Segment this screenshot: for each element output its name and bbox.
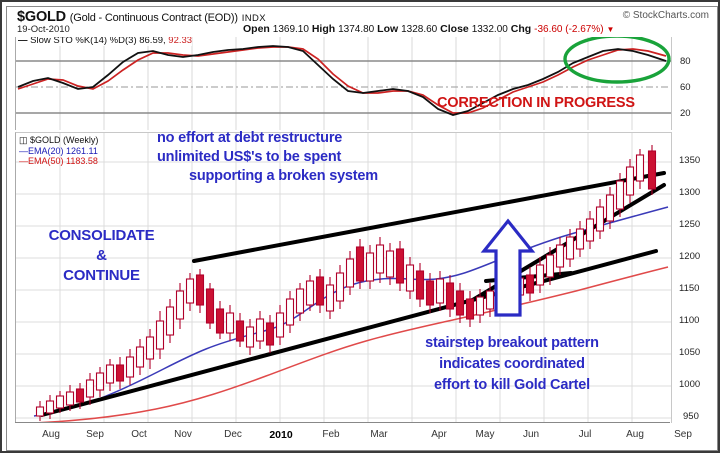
price-legend: ◫ $GOLD (Weekly) —EMA(20) 1261.11 —EMA(5… <box>19 135 98 167</box>
ema50-legend: —EMA(50) 1183.58 <box>19 156 98 167</box>
x-tick-sep-2010: Sep <box>674 429 692 440</box>
stockcharts-screenshot: $GOLD (Gold - Continuous Contract (EOD))… <box>0 0 720 453</box>
x-tick-aug-2009: Aug <box>42 429 60 440</box>
price-tick-1100: 1100 <box>679 315 699 326</box>
stockcharts-watermark: © StockCharts.com <box>623 10 709 21</box>
annotation-correction-in-progress: CORRECTION IN PROGRESS <box>437 95 635 111</box>
annotation-top-line2: unlimited US$'s to be spent <box>157 148 378 167</box>
x-tick-sep-2009: Sep <box>86 429 104 440</box>
price-tick-1000: 1000 <box>679 379 700 390</box>
stochastic-panel: — Slow STO %K(14) %D(3) 86.59, 92.33 <box>15 37 672 130</box>
x-tick-oct-2009: Oct <box>131 429 147 440</box>
chg-label: Chg <box>511 23 531 35</box>
down-triangle-icon: ▼ <box>607 25 615 34</box>
annotation-top-line3: supporting a broken system <box>157 167 378 186</box>
x-tick-nov-2009: Nov <box>174 429 192 440</box>
x-tick-mar-2010: Mar <box>370 429 387 440</box>
annotation-bottom-block: stairstep breakout pattern indicates coo… <box>362 333 662 396</box>
x-tick-jun-2010: Jun <box>523 429 539 440</box>
price-tick-950: 950 <box>683 411 699 422</box>
x-tick-aug-2010: Aug <box>626 429 644 440</box>
low-label: Low <box>377 23 398 35</box>
ema50-dash-icon: — <box>19 156 28 166</box>
chg-value: -36.60 (-2.67%) <box>534 24 603 35</box>
chart-frame: $GOLD (Gold - Continuous Contract (EOD))… <box>6 6 718 451</box>
low-value: 1328.60 <box>401 24 437 35</box>
symbol-name: (Gold - Continuous Contract (EOD)) <box>70 12 238 24</box>
ema20-dash-icon: — <box>19 146 28 156</box>
annotation-left-block: CONSOLIDATE & CONTINUE <box>19 226 184 286</box>
x-tick-2010: 2010 <box>269 429 292 441</box>
x-axis: Aug Sep Oct Nov Dec 2010 Feb Mar Apr May… <box>15 422 670 449</box>
legend-dash-icon: — <box>18 37 28 46</box>
close-value: 1332.00 <box>472 24 508 35</box>
price-y-axis: 1350 1300 1250 1200 1150 1100 1050 1000 … <box>672 132 719 422</box>
annotation-left-line2: & <box>19 246 184 266</box>
stochastic-legend: — Slow STO %K(14) %D(3) 86.59, 92.33 <box>18 37 192 46</box>
high-value: 1374.80 <box>338 24 374 35</box>
symbol-title: $GOLD (Gold - Continuous Contract (EOD))… <box>17 9 266 25</box>
ema20-legend: —EMA(20) 1261.11 <box>19 146 98 157</box>
x-tick-may-2010: May <box>476 429 495 440</box>
price-legend-symbol: ◫ $GOLD (Weekly) <box>19 135 98 146</box>
price-tick-1200: 1200 <box>679 251 700 262</box>
annotation-bottom-line3: effort to kill Gold Cartel <box>362 375 662 396</box>
sto-tick-80: 80 <box>680 56 691 67</box>
quote-date: 19-Oct-2010 <box>17 24 70 35</box>
open-label: Open <box>243 23 270 35</box>
price-tick-1150: 1150 <box>679 283 699 294</box>
stochastic-legend-text: Slow STO %K(14) %D(3) 86.59, <box>30 37 166 46</box>
annotation-bottom-line1: stairstep breakout pattern <box>362 333 662 354</box>
stochastic-y-axis: 80 60 20 <box>672 37 719 130</box>
stochastic-plot <box>16 37 671 130</box>
symbol-ticker: $GOLD <box>17 9 66 25</box>
trendline-upper-resistance <box>194 173 664 261</box>
ohlc-quote-bar: Open 1369.10 High 1374.80 Low 1328.60 Cl… <box>243 23 614 35</box>
price-tick-1300: 1300 <box>679 187 700 198</box>
annotation-bottom-line2: indicates coordinated <box>362 354 662 375</box>
sto-tick-60: 60 <box>680 82 691 93</box>
price-tick-1350: 1350 <box>679 155 700 166</box>
x-tick-jul-2010: Jul <box>579 429 592 440</box>
stochastic-d-value: 92.33 <box>168 37 192 46</box>
sto-tick-20: 20 <box>680 108 691 119</box>
open-value: 1369.10 <box>273 24 309 35</box>
x-tick-dec-2009: Dec <box>224 429 242 440</box>
high-label: High <box>312 23 335 35</box>
price-tick-1050: 1050 <box>679 347 700 358</box>
annotation-top-line1: no effort at debt restructure <box>157 129 378 148</box>
chart-header: $GOLD (Gold - Continuous Contract (EOD))… <box>7 7 717 37</box>
candle-icon: ◫ <box>19 135 28 145</box>
price-tick-1250: 1250 <box>679 219 700 230</box>
x-tick-apr-2010: Apr <box>431 429 447 440</box>
annotation-left-line3: CONTINUE <box>19 266 184 286</box>
annotation-top-block: no effort at debt restructure unlimited … <box>157 129 378 186</box>
x-tick-feb-2010: Feb <box>322 429 339 440</box>
close-label: Close <box>440 23 469 35</box>
annotation-left-line1: CONSOLIDATE <box>19 226 184 246</box>
